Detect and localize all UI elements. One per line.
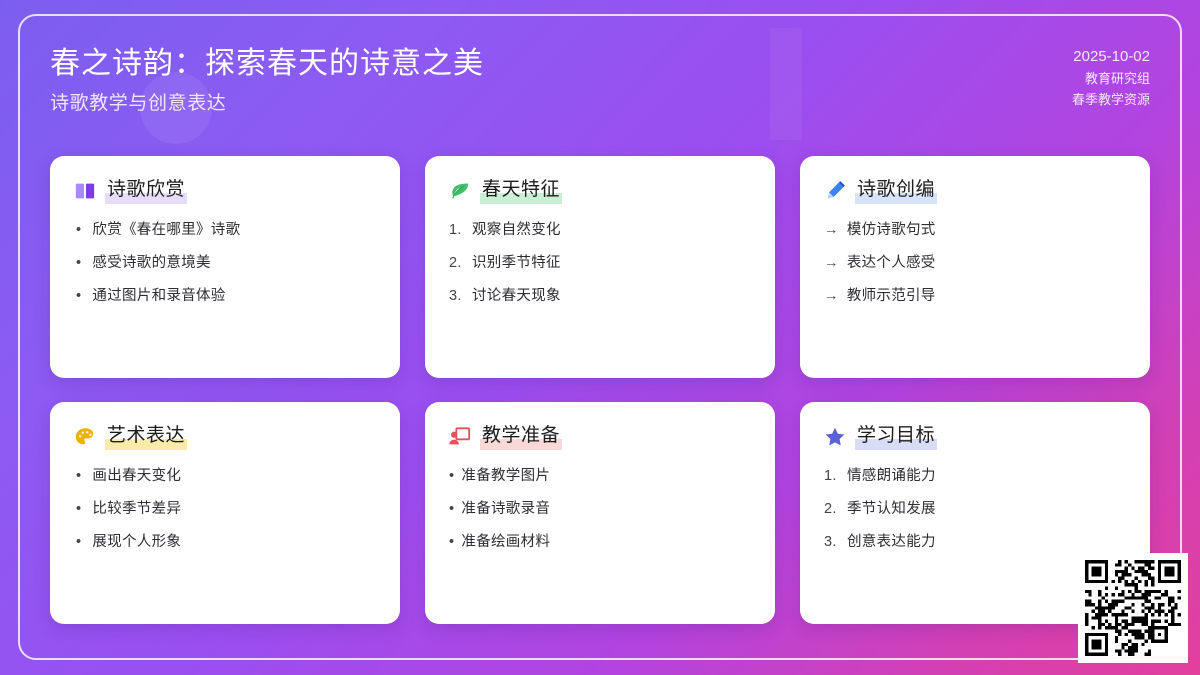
list-text: 季节认知发展 xyxy=(847,499,936,519)
list-marker: • xyxy=(449,532,454,552)
list-marker: • xyxy=(76,499,81,519)
list-item: 2.季节认知发展 xyxy=(824,499,1126,519)
header-organization: 教育研究组 xyxy=(1072,68,1150,89)
card-header: 诗歌欣赏 xyxy=(74,178,376,204)
card-list: •画出春天变化 •比较季节差异 •展现个人形象 xyxy=(74,466,376,552)
list-item: 1.情感朗诵能力 xyxy=(824,466,1126,486)
list-text: 准备诗歌录音 xyxy=(461,499,550,519)
list-item: •展现个人形象 xyxy=(74,532,376,552)
card-grid: 诗歌欣赏 •欣赏《春在哪里》诗歌 •感受诗歌的意境美 •通过图片和录音体验 春天… xyxy=(50,156,1150,624)
list-text: 准备教学图片 xyxy=(461,466,550,486)
card-list: 1.情感朗诵能力 2.季节认知发展 3.创意表达能力 xyxy=(824,466,1126,552)
list-item: •欣赏《春在哪里》诗歌 xyxy=(74,220,376,240)
leaf-icon xyxy=(449,180,471,202)
header-text-block: 春之诗韵：探索春天的诗意之美 诗歌教学与创意表达 xyxy=(50,44,484,119)
list-text: 欣赏《春在哪里》诗歌 xyxy=(92,220,240,240)
header-date: 2025-10-02 xyxy=(1072,46,1150,68)
list-text: 画出春天变化 xyxy=(92,466,181,486)
list-marker: • xyxy=(449,499,454,519)
card-list: →模仿诗歌句式 →表达个人感受 →教师示范引导 xyxy=(824,220,1126,306)
card-header: 学习目标 xyxy=(824,424,1126,450)
list-marker: 1. xyxy=(824,466,840,486)
open-book-icon xyxy=(74,180,96,202)
list-item: •准备绘画材料 xyxy=(449,532,751,552)
star-icon xyxy=(824,426,846,448)
list-item: 2.识别季节特征 xyxy=(449,253,751,273)
list-item: 3.创意表达能力 xyxy=(824,532,1126,552)
list-text: 教师示范引导 xyxy=(847,286,936,306)
card-title: 学习目标 xyxy=(855,424,937,450)
list-marker: • xyxy=(76,466,81,486)
list-text: 比较季节差异 xyxy=(92,499,181,519)
list-marker: 2. xyxy=(824,499,840,519)
qr-code[interactable] xyxy=(1078,553,1188,663)
list-marker: • xyxy=(76,253,81,273)
card-title: 艺术表达 xyxy=(105,424,187,450)
list-item: •比较季节差异 xyxy=(74,499,376,519)
list-item: →表达个人感受 xyxy=(824,253,1126,273)
slide-header: 春之诗韵：探索春天的诗意之美 诗歌教学与创意表达 2025-10-02 教育研究… xyxy=(0,14,1200,140)
list-marker: → xyxy=(824,253,839,273)
list-marker: • xyxy=(76,286,81,306)
list-marker: → xyxy=(824,286,839,306)
pen-icon xyxy=(824,180,846,202)
list-text: 准备绘画材料 xyxy=(461,532,550,552)
presentation-icon xyxy=(449,426,471,448)
header-meta-block: 2025-10-02 教育研究组 春季教学资源 xyxy=(1072,46,1150,110)
card-header: 艺术表达 xyxy=(74,424,376,450)
list-item: •通过图片和录音体验 xyxy=(74,286,376,306)
list-text: 创意表达能力 xyxy=(847,532,936,552)
list-text: 情感朗诵能力 xyxy=(847,466,936,486)
list-text: 感受诗歌的意境美 xyxy=(92,253,210,273)
card-list: •准备教学图片 •准备诗歌录音 •准备绘画材料 xyxy=(449,466,751,552)
card-title: 春天特征 xyxy=(480,178,562,204)
list-text: 表达个人感受 xyxy=(847,253,936,273)
list-item: 1.观察自然变化 xyxy=(449,220,751,240)
slide-root: 春之诗韵：探索春天的诗意之美 诗歌教学与创意表达 2025-10-02 教育研究… xyxy=(0,0,1200,675)
list-item: •感受诗歌的意境美 xyxy=(74,253,376,273)
qr-code-image xyxy=(1085,560,1181,656)
list-item: •画出春天变化 xyxy=(74,466,376,486)
card-header: 诗歌创编 xyxy=(824,178,1126,204)
card-title: 教学准备 xyxy=(480,424,562,450)
list-marker: 1. xyxy=(449,220,465,240)
list-text: 讨论春天现象 xyxy=(472,286,561,306)
list-marker: • xyxy=(76,220,81,240)
page-subtitle: 诗歌教学与创意表达 xyxy=(50,89,484,119)
card-poetry-creation[interactable]: 诗歌创编 →模仿诗歌句式 →表达个人感受 →教师示范引导 xyxy=(800,156,1150,378)
card-art-expression[interactable]: 艺术表达 •画出春天变化 •比较季节差异 •展现个人形象 xyxy=(50,402,400,624)
card-teaching-preparation[interactable]: 教学准备 •准备教学图片 •准备诗歌录音 •准备绘画材料 xyxy=(425,402,775,624)
card-title: 诗歌创编 xyxy=(855,178,937,204)
list-item: →模仿诗歌句式 xyxy=(824,220,1126,240)
list-marker: → xyxy=(824,220,839,240)
card-list: •欣赏《春在哪里》诗歌 •感受诗歌的意境美 •通过图片和录音体验 xyxy=(74,220,376,306)
page-title: 春之诗韵：探索春天的诗意之美 xyxy=(50,44,484,84)
list-text: 识别季节特征 xyxy=(472,253,561,273)
header-tag: 春季教学资源 xyxy=(1072,89,1150,110)
list-text: 通过图片和录音体验 xyxy=(92,286,225,306)
list-item: →教师示范引导 xyxy=(824,286,1126,306)
card-header: 教学准备 xyxy=(449,424,751,450)
list-text: 模仿诗歌句式 xyxy=(847,220,936,240)
list-text: 展现个人形象 xyxy=(92,532,181,552)
list-marker: 3. xyxy=(824,532,840,552)
card-spring-features[interactable]: 春天特征 1.观察自然变化 2.识别季节特征 3.讨论春天现象 xyxy=(425,156,775,378)
palette-icon xyxy=(74,426,96,448)
list-item: •准备教学图片 xyxy=(449,466,751,486)
card-poetry-appreciation[interactable]: 诗歌欣赏 •欣赏《春在哪里》诗歌 •感受诗歌的意境美 •通过图片和录音体验 xyxy=(50,156,400,378)
list-item: •准备诗歌录音 xyxy=(449,499,751,519)
list-text: 观察自然变化 xyxy=(472,220,561,240)
list-marker: • xyxy=(449,466,454,486)
card-list: 1.观察自然变化 2.识别季节特征 3.讨论春天现象 xyxy=(449,220,751,306)
card-header: 春天特征 xyxy=(449,178,751,204)
list-marker: 3. xyxy=(449,286,465,306)
list-marker: • xyxy=(76,532,81,552)
card-title: 诗歌欣赏 xyxy=(105,178,187,204)
list-item: 3.讨论春天现象 xyxy=(449,286,751,306)
list-marker: 2. xyxy=(449,253,465,273)
